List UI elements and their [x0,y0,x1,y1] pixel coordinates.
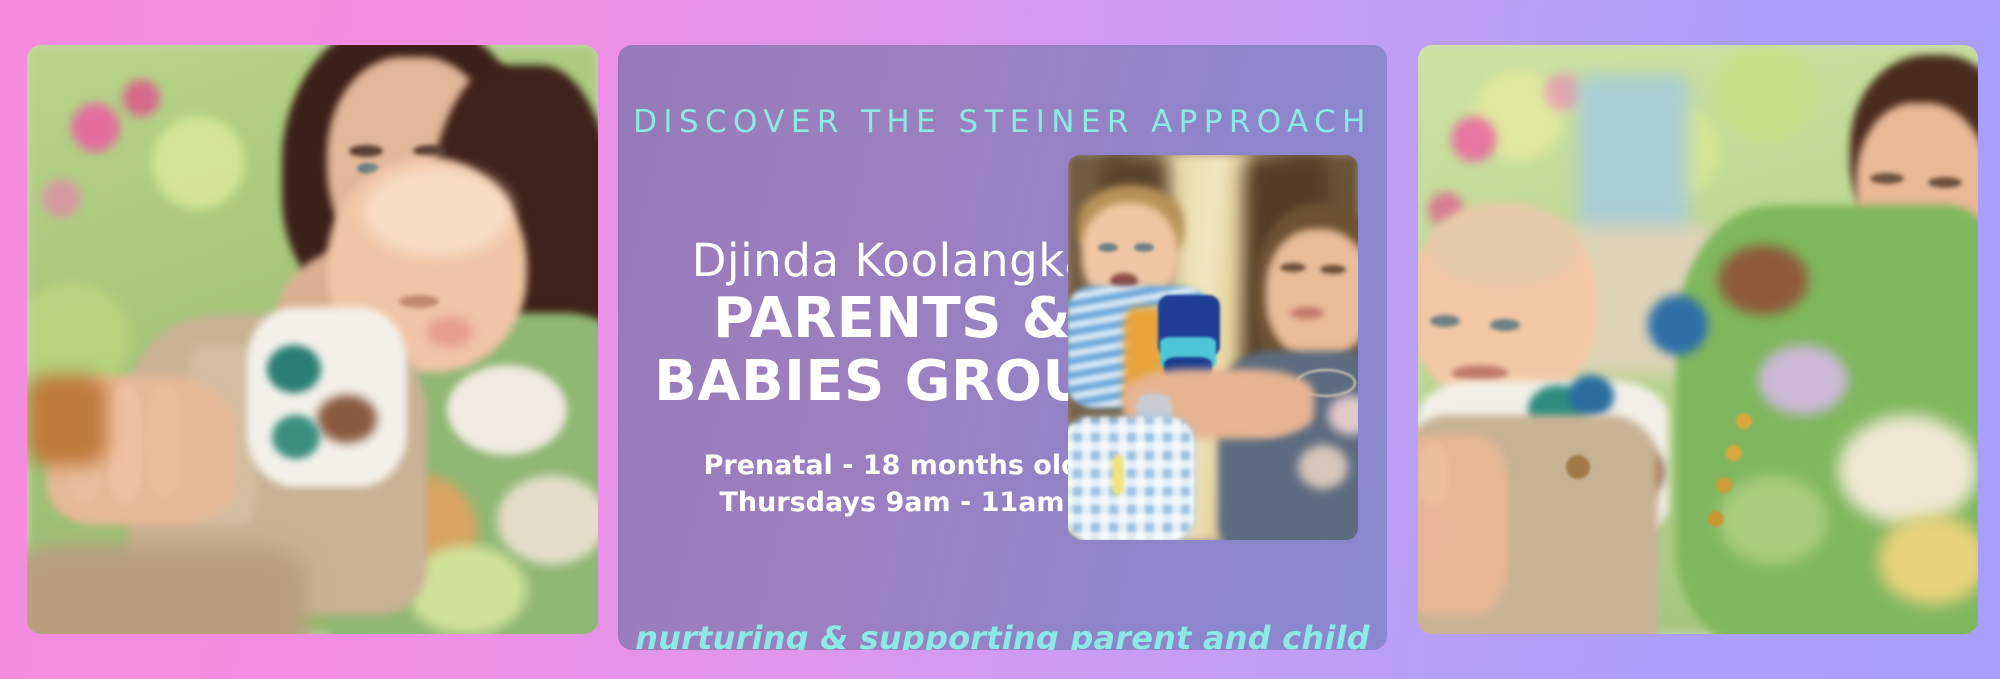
photo-right [1418,45,1978,634]
photo-inset [1068,155,1358,540]
panel-eyebrow: DISCOVER THE STEINER APPROACH [618,104,1387,140]
photo-left-scene [27,45,598,634]
panel-tagline: nurturing & supporting parent and child [618,619,1387,650]
photo-right-scene [1418,45,1978,634]
photo-left [27,45,598,634]
photo-inset-scene [1068,155,1358,540]
banner-root: DISCOVER THE STEINER APPROACH Djinda Koo… [0,0,2000,679]
